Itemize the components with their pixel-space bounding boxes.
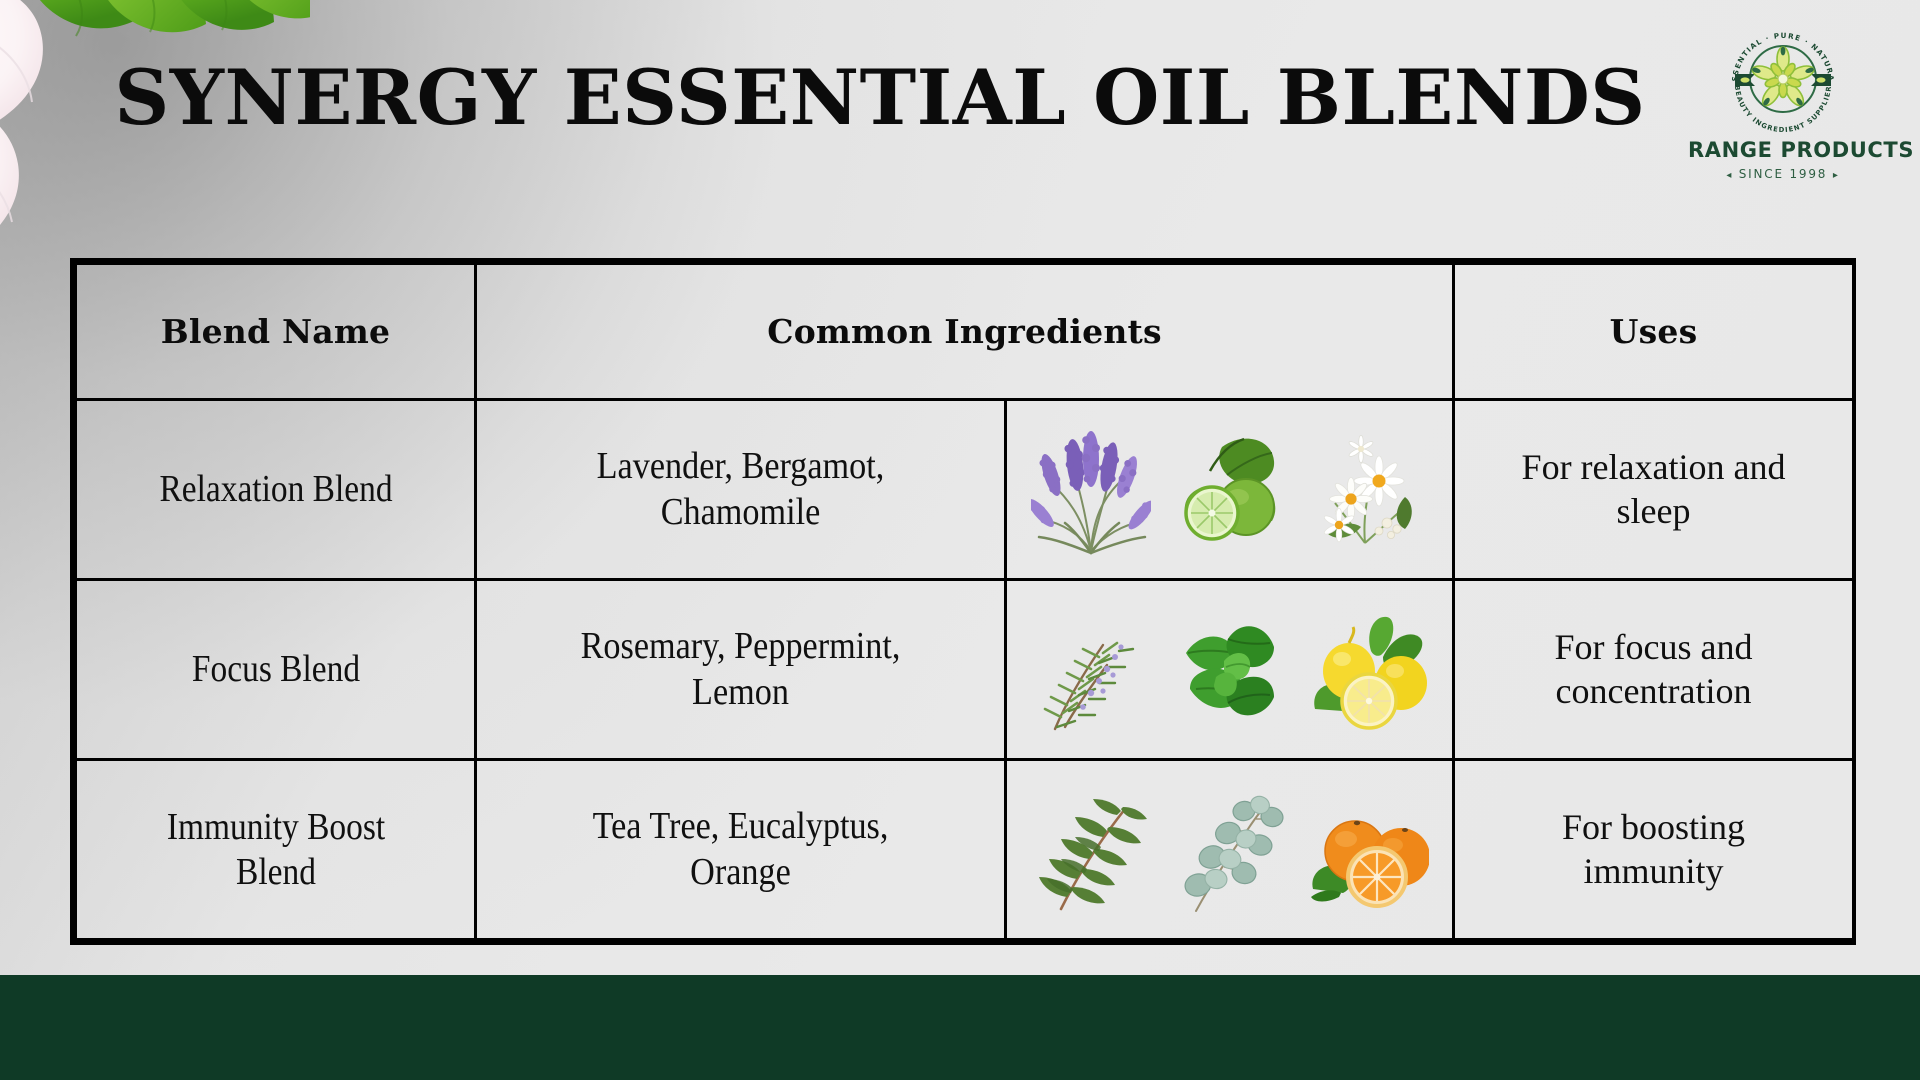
cell-blend-name: Immunity Boost Blend — [100, 760, 452, 940]
uses-line-1: For boosting — [1455, 806, 1852, 850]
table-row: Immunity Boost Blend Tea Tree, Eucalyptu… — [76, 760, 1854, 940]
logo-since-text: ◂ SINCE 1998 ▸ — [1688, 167, 1878, 181]
peppermint-illustration-icon — [1170, 605, 1290, 735]
eucalyptus-illustration-icon — [1170, 785, 1290, 915]
rosemary-illustration-icon — [1031, 605, 1151, 735]
cell-blend-name: Relaxation Blend — [100, 400, 452, 580]
logo-brand-name: RANGE PRODUCTS — [1688, 138, 1878, 162]
brand-logo: ESSENTIAL · PURE · NATURAL BEAUTY INGRED… — [1688, 22, 1878, 182]
uses-line-1: For focus and — [1455, 626, 1852, 670]
lavender-illustration-icon — [1031, 425, 1151, 555]
cell-blend-name: Focus Blend — [100, 580, 452, 760]
column-header-common-ingredients: Common Ingredients — [476, 264, 1454, 400]
bergamot-illustration-icon — [1170, 425, 1290, 555]
column-header-uses: Uses — [1454, 264, 1854, 400]
uses-line-2: concentration — [1455, 670, 1852, 714]
bergamot-leaf — [1210, 438, 1274, 484]
ingredients-line-2: Chamomile — [503, 490, 977, 536]
cell-ingredient-images — [1006, 400, 1454, 580]
page-title: SYNERGY ESSENTIAL OIL BLENDS — [0, 60, 1760, 136]
blend-name-line-2: Blend — [101, 850, 450, 895]
lemon-illustration-icon — [1309, 605, 1429, 735]
logo-emblem-icon: ESSENTIAL · PURE · NATURAL BEAUTY INGRED… — [1719, 22, 1847, 136]
blends-table: Blend Name Common Ingredients Uses Relax… — [74, 262, 1855, 941]
blend-name-line-1: Immunity Boost — [101, 805, 450, 850]
uses-line-1: For relaxation and — [1455, 446, 1852, 490]
ingredients-line-1: Lavender, Bergamot, — [503, 444, 977, 490]
cell-ingredient-images — [1006, 760, 1454, 940]
tea-tree-illustration-icon — [1031, 785, 1151, 915]
infographic-page: SYNERGY ESSENTIAL OIL BLENDS ESSENTIAL ·… — [0, 0, 1920, 1080]
table-header-row: Blend Name Common Ingredients Uses — [76, 264, 1854, 400]
ingredients-line-1: Rosemary, Peppermint, — [503, 624, 977, 670]
ingredients-line-1: Tea Tree, Eucalyptus, — [503, 804, 977, 850]
cell-uses: For boosting immunity — [1454, 760, 1854, 940]
table-row: Relaxation Blend Lavender, Bergamot, Cha… — [76, 400, 1854, 580]
orange-illustration-icon — [1309, 785, 1429, 915]
cell-uses: For relaxation and sleep — [1454, 400, 1854, 580]
chamomile-illustration-icon — [1309, 425, 1429, 555]
mint-leaves — [1186, 626, 1274, 715]
ingredients-line-2: Orange — [503, 850, 977, 896]
ingredients-line-2: Lemon — [503, 670, 977, 716]
uses-line-2: sleep — [1455, 490, 1852, 534]
cell-ingredient-images — [1006, 580, 1454, 760]
footer-green-band — [0, 975, 1920, 1080]
table-row: Focus Blend Rosemary, Peppermint, Lemon — [76, 580, 1854, 760]
cell-ingredients: Rosemary, Peppermint, Lemon — [476, 580, 1006, 760]
cell-uses: For focus and concentration — [1454, 580, 1854, 760]
cell-ingredients: Lavender, Bergamot, Chamomile — [476, 400, 1006, 580]
blends-table-container: Blend Name Common Ingredients Uses Relax… — [70, 258, 1856, 945]
uses-line-2: immunity — [1455, 850, 1852, 894]
cell-ingredients: Tea Tree, Eucalyptus, Orange — [476, 760, 1006, 940]
column-header-blend-name: Blend Name — [76, 264, 476, 400]
